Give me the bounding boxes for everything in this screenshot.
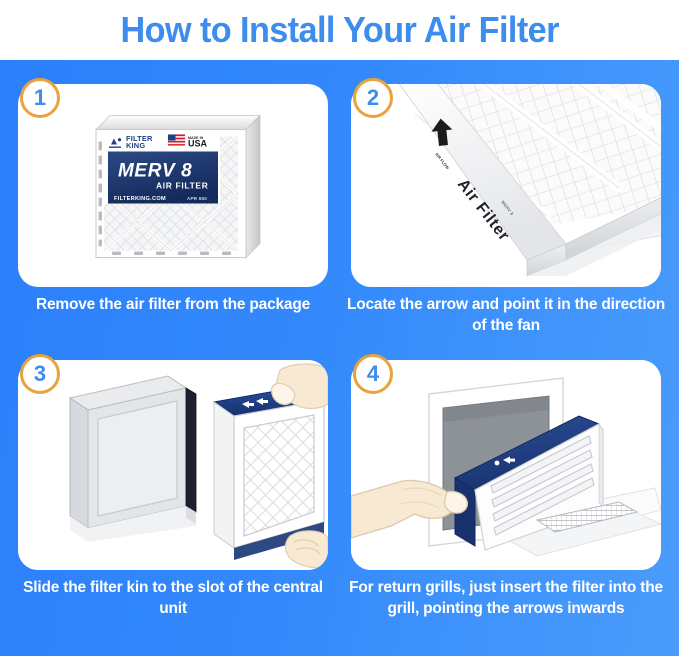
step-number-4: 4 xyxy=(367,363,379,385)
central-unit-slot xyxy=(70,376,196,542)
step-badge-3: 3 xyxy=(20,354,60,394)
step-number-3: 3 xyxy=(34,363,46,385)
step-badge-4: 4 xyxy=(353,354,393,394)
title-band: How to Install Your Air Filter xyxy=(0,0,679,60)
svg-text:MERV 8: MERV 8 xyxy=(118,160,192,181)
svg-text:APR 650: APR 650 xyxy=(187,196,207,201)
step-card-4 xyxy=(351,360,661,570)
svg-text:KING: KING xyxy=(126,141,145,150)
infographic-root: How to Install Your Air Filter xyxy=(0,0,679,656)
step-caption-4: For return grills, just insert the filte… xyxy=(345,578,667,620)
step-badge-1: 1 xyxy=(20,78,60,118)
step-number-1: 1 xyxy=(34,87,46,109)
svg-text:USA: USA xyxy=(188,138,208,148)
step-card-2: AIR FLOW Air Filter MERV 8 xyxy=(351,84,661,287)
step-image-2: AIR FLOW Air Filter MERV 8 xyxy=(351,84,661,287)
svg-text:FILTERKING.COM: FILTERKING.COM xyxy=(114,196,166,202)
merv-8-air-filter-photo: FILTER KING xyxy=(82,103,264,268)
step-image-3 xyxy=(18,360,328,570)
step-image-1: FILTER KING xyxy=(18,84,328,287)
step-caption-1: Remove the air filter from the package xyxy=(12,295,334,316)
page-title: How to Install Your Air Filter xyxy=(120,9,558,51)
steps-container: FILTER KING xyxy=(0,60,679,656)
step-caption-2: Locate the arrow and point it in the dir… xyxy=(345,295,667,337)
hand-top xyxy=(272,364,328,409)
svg-text:AIR FILTER: AIR FILTER xyxy=(156,180,208,190)
step-caption-3: Slide the filter kin to the slot of the … xyxy=(12,578,334,620)
step-image-4 xyxy=(351,360,661,570)
step-card-1: FILTER KING xyxy=(18,84,328,287)
step-card-3 xyxy=(18,360,328,570)
step-number-2: 2 xyxy=(367,87,379,109)
step-badge-2: 2 xyxy=(353,78,393,118)
